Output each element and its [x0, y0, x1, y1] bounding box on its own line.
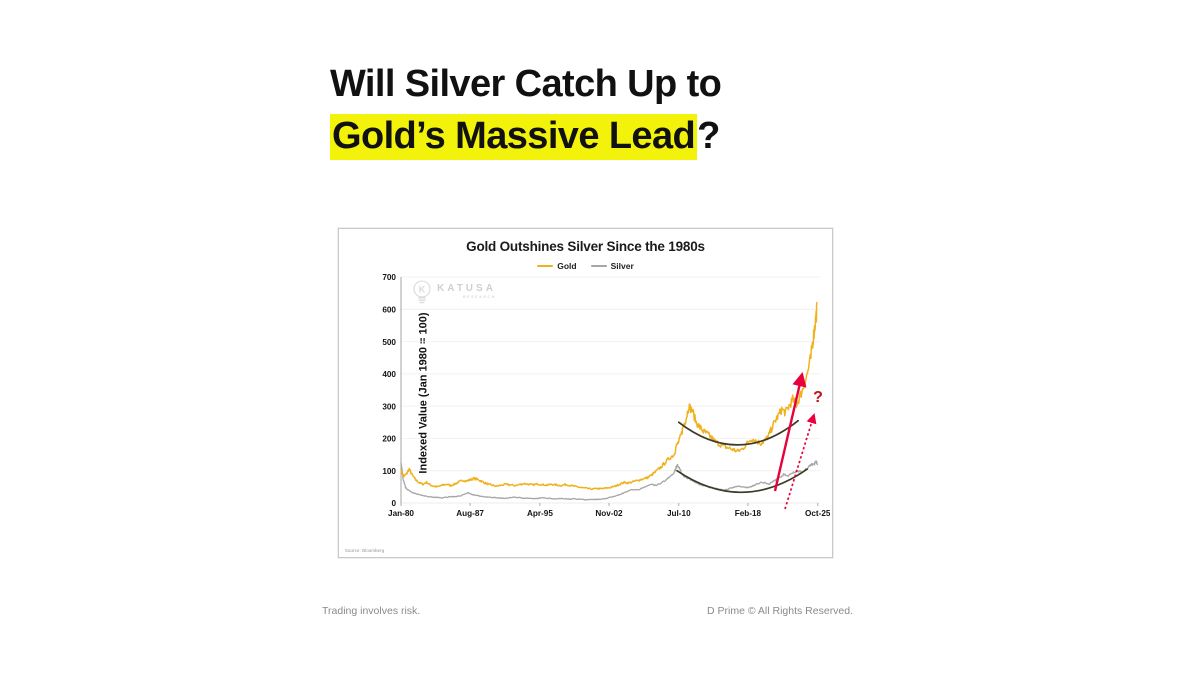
headline-tail: ? [697, 115, 720, 157]
x-axis-ticks: Jan-80Aug-87Apr-95Nov-02Jul-10Feb-18Oct-… [388, 503, 830, 518]
slide-canvas: Will Silver Catch Up to Gold’s Massive L… [0, 0, 1200, 675]
chart-svg: 0100200300400500600700 Jan-80Aug-87Apr-9… [377, 271, 830, 529]
legend-label-silver: Silver [611, 261, 634, 271]
chart-card: Gold Outshines Silver Since the 1980s Go… [338, 228, 833, 558]
svg-text:300: 300 [382, 402, 396, 411]
svg-text:Nov-02: Nov-02 [595, 509, 623, 518]
footer-disclaimer: Trading involves risk. [322, 605, 420, 617]
headline-line-1: Will Silver Catch Up to [330, 58, 890, 110]
svg-text:0: 0 [391, 499, 396, 508]
gold-projection-arrow [775, 379, 801, 491]
svg-text:Jul-10: Jul-10 [667, 509, 691, 518]
svg-text:600: 600 [382, 305, 396, 314]
svg-text:Oct-25: Oct-25 [805, 509, 830, 518]
chart-title: Gold Outshines Silver Since the 1980s [339, 239, 832, 254]
headline-highlight: Gold’s Massive Lead [330, 114, 697, 160]
svg-text:Feb-18: Feb-18 [735, 509, 762, 518]
svg-text:100: 100 [382, 467, 396, 476]
cup-arc-silver-annotation [677, 469, 807, 492]
svg-text:Jan-80: Jan-80 [388, 509, 414, 518]
series-line-gold [401, 303, 817, 490]
svg-text:700: 700 [382, 273, 396, 282]
svg-text:500: 500 [382, 338, 396, 347]
svg-text:400: 400 [382, 370, 396, 379]
question-mark-annotation: ? [813, 389, 823, 406]
legend-swatch-gold [537, 265, 553, 268]
legend-item-gold: Gold [537, 261, 576, 271]
svg-text:Aug-87: Aug-87 [456, 509, 484, 518]
page-title: Will Silver Catch Up to Gold’s Massive L… [330, 58, 890, 163]
legend-item-silver: Silver [591, 261, 634, 271]
legend-label-gold: Gold [557, 261, 576, 271]
headline-line-2: Gold’s Massive Lead? [330, 110, 890, 162]
chart-gridlines [401, 277, 820, 503]
svg-text:Apr-95: Apr-95 [527, 509, 553, 518]
legend-swatch-silver [591, 265, 607, 268]
svg-text:200: 200 [382, 435, 396, 444]
chart-legend: Gold Silver [339, 261, 832, 271]
y-axis-ticks: 0100200300400500600700 [382, 273, 396, 508]
plot-area: 0100200300400500600700 Jan-80Aug-87Apr-9… [377, 271, 828, 527]
footer-copyright: D Prime © All Rights Reserved. [707, 605, 853, 617]
chart-source-note: Source: Bloomberg [345, 548, 384, 553]
